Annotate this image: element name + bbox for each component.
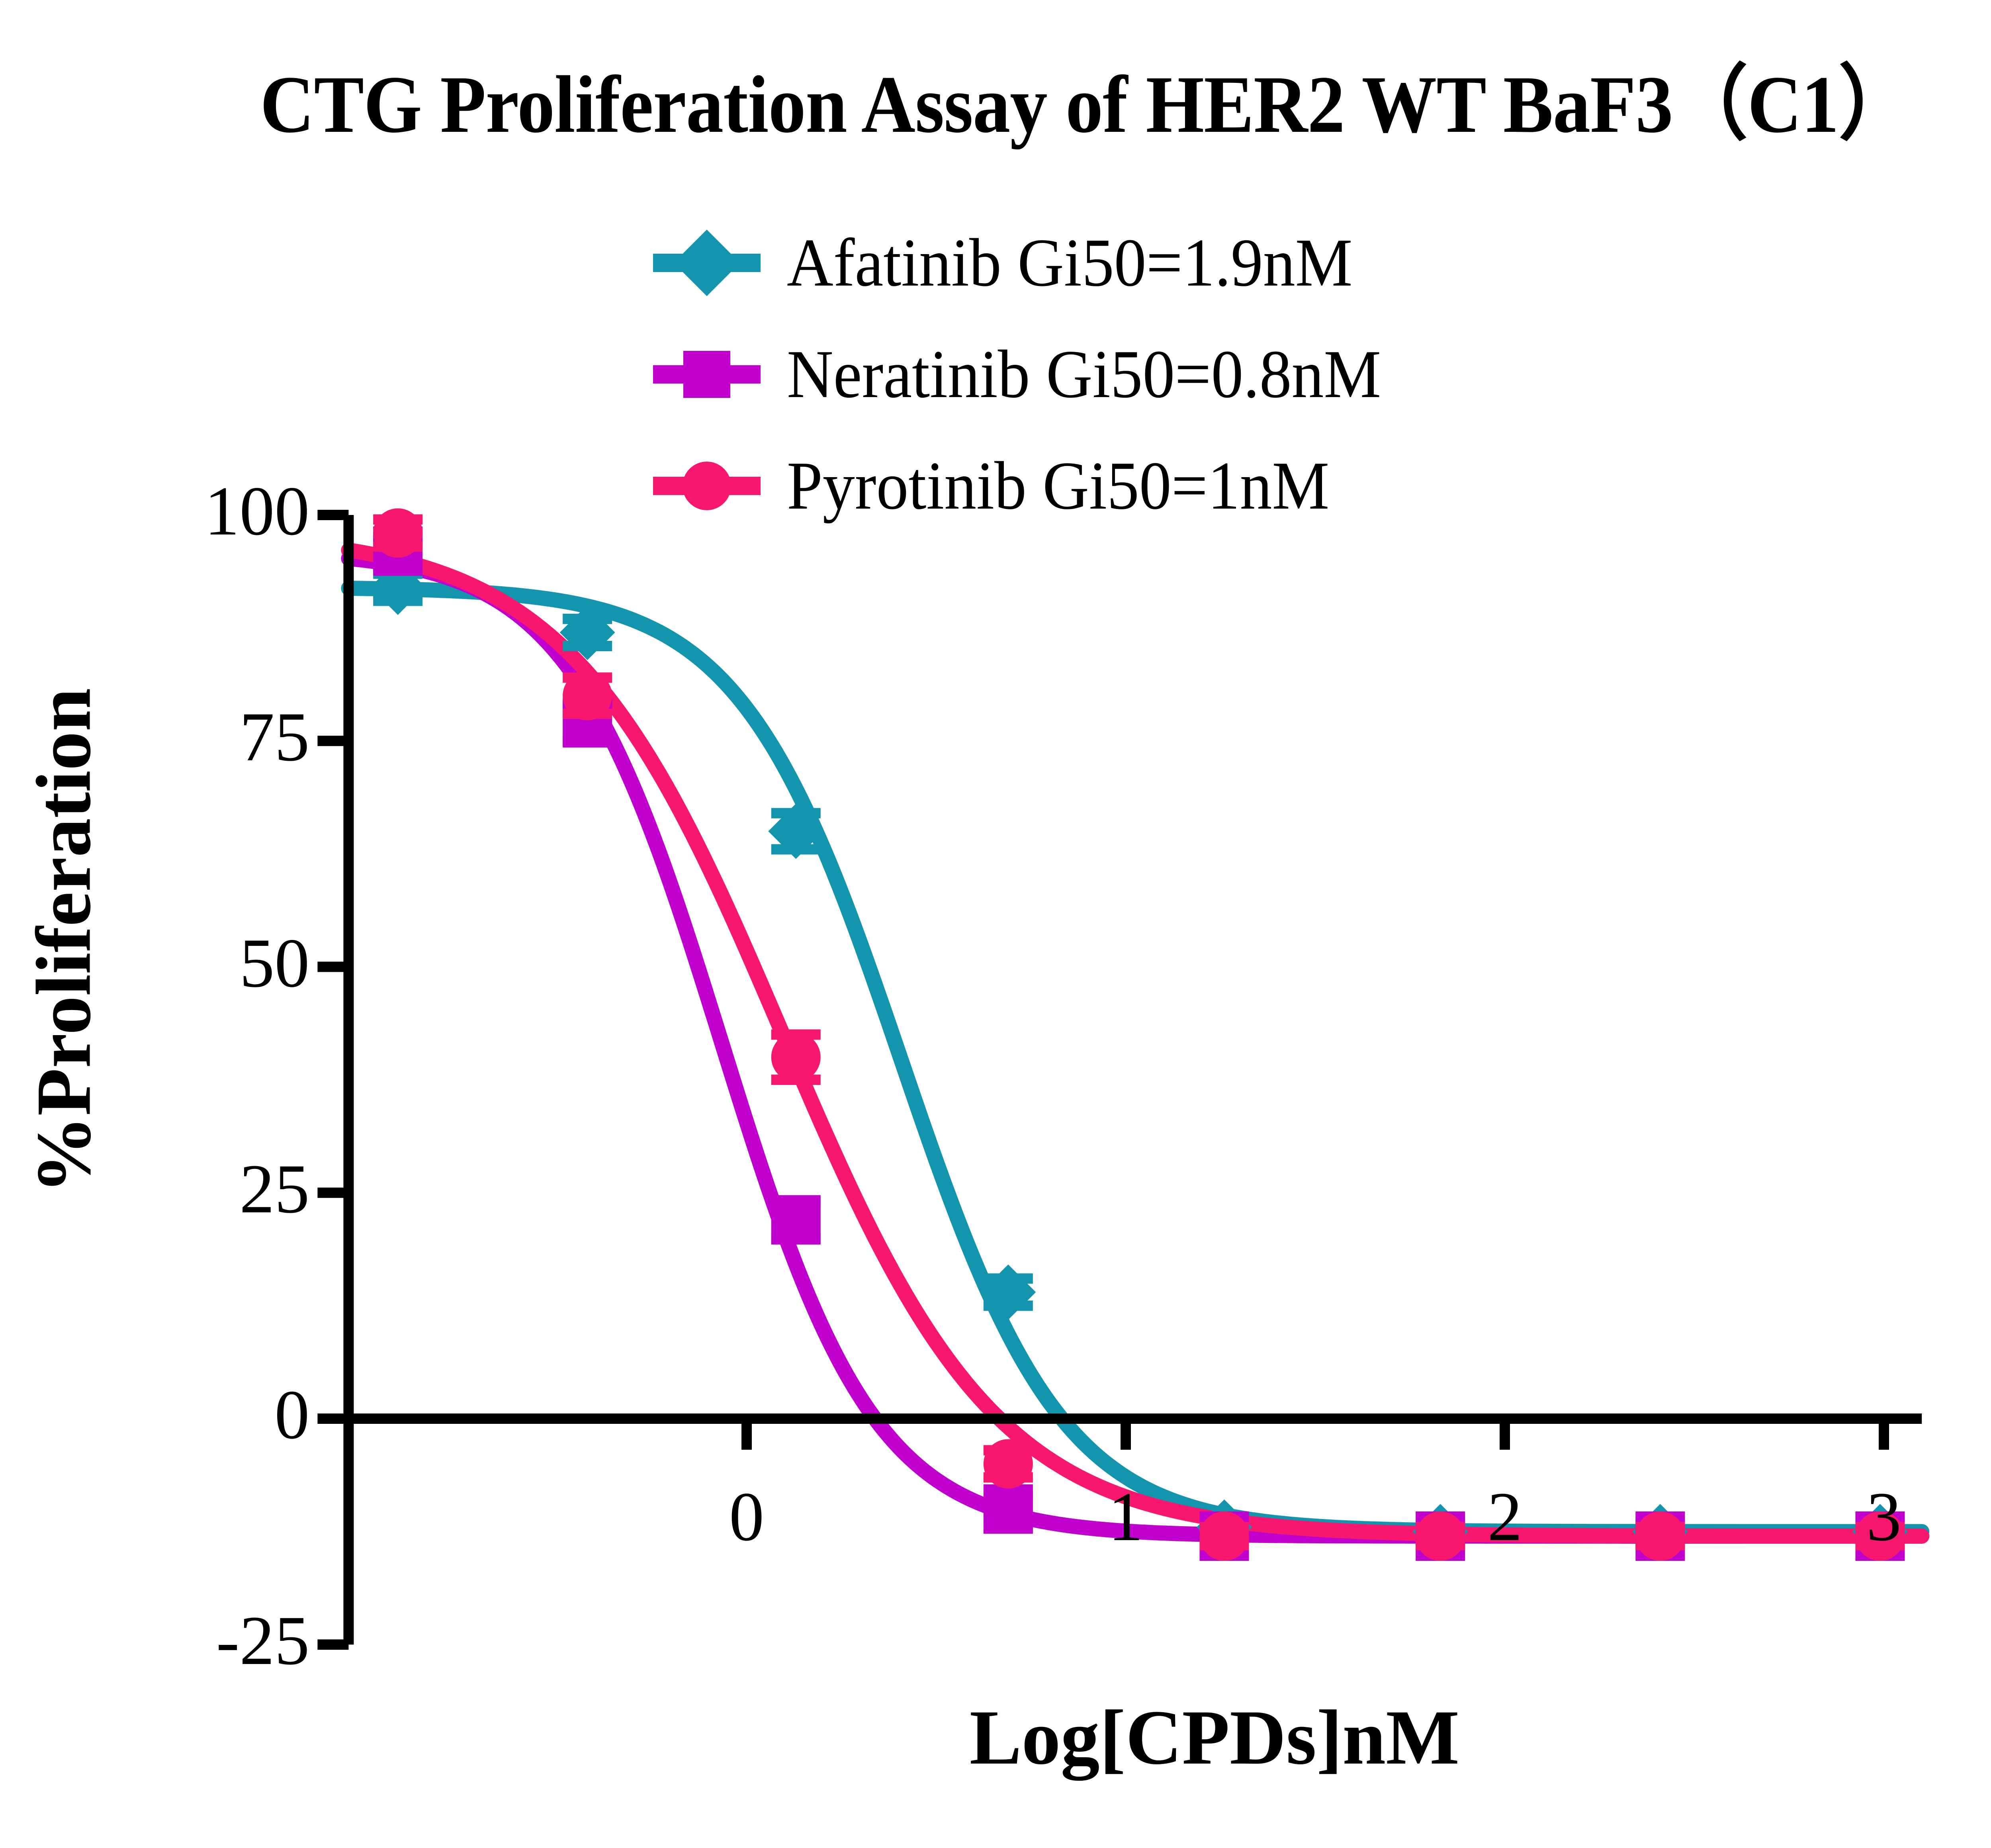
data-point-circle-1 [563,671,612,720]
data-point-square-2 [771,1195,821,1245]
x-axis-label: Log[CPDs]nM [677,1693,1752,1782]
data-point-circle-0 [373,508,422,558]
data-point-circle-3 [984,1439,1033,1488]
series-points-2 [373,508,1905,1561]
figure-root: CTG Proliferation Assay of HER2 WT BaF3（… [0,0,1991,1848]
y-tick-label: 25 [31,1149,309,1229]
y-tick-label: 100 [31,471,309,552]
x-tick-label: 0 [667,1477,826,1557]
data-point-circle-4 [1200,1511,1249,1561]
x-tick-label: 1 [1046,1477,1205,1557]
data-point-square-3 [984,1484,1033,1534]
y-tick-label: -25 [31,1601,309,1681]
y-tick-label: 75 [31,697,309,777]
x-tick-label: 3 [1804,1477,1964,1557]
data-point-circle-2 [771,1032,821,1082]
y-tick-label: 0 [31,1375,309,1455]
series-markers [370,508,1908,1561]
data-point-circle-6 [1635,1511,1685,1561]
x-tick-label: 2 [1425,1477,1584,1557]
y-tick-label: 50 [31,923,309,1004]
